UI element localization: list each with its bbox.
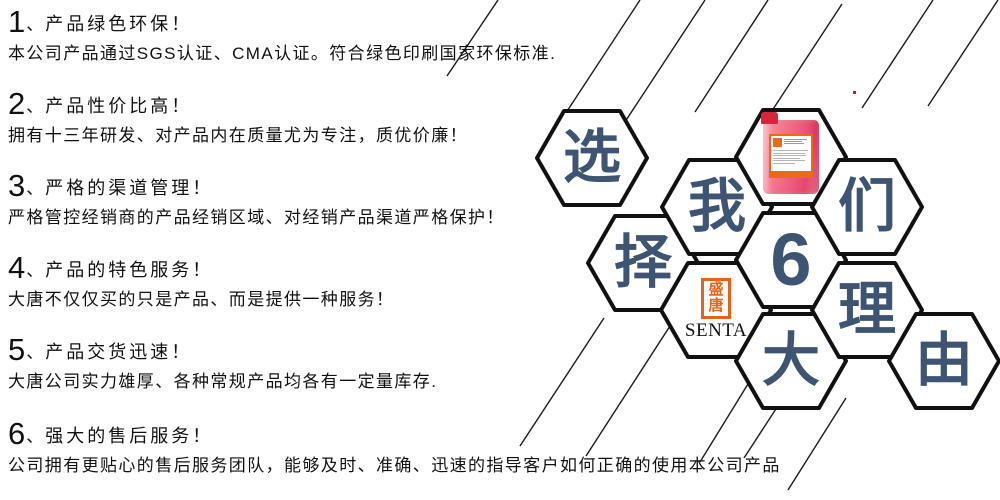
reason-6-body: 公司拥有更贴心的售后服务团队，能够及时、准确、迅速的指导客户如何正确的使用本公司… [8,456,781,476]
reason-2-number: 2 [8,88,25,119]
product-drum-icon [763,120,819,194]
reason-6-heading: 6 、 强大的售后服务！ [8,418,781,449]
reason-3-heading: 3 、 严格的渠道管理！ [8,170,505,201]
reason-6-number: 6 [8,418,25,449]
reason-5-separator: 、 [26,338,43,363]
reason-3-body: 严格管控经销商的产品经销区域、对经销产品渠道严格保护！ [8,208,505,228]
reason-5-heading: 5 、 产品交货迅速！ [8,334,437,365]
seal-char-bottom: 唐 [708,299,723,314]
reason-1-body: 本公司产品通过SGS认证、CMA认证。符合绿色印刷国家环保标准. [8,44,556,64]
reason-2-body: 拥有十三年研发、对产品内在质量尤为专注，质优价廉！ [8,126,468,146]
reason-6-title: 强大的售后服务！ [45,426,213,446]
reason-1-separator: 、 [26,10,43,35]
hex-label-you: 由 [889,314,999,408]
label-bottom-bar [771,171,811,176]
reason-3-number: 3 [8,170,25,201]
reason-item-5: 5 、 产品交货迅速！ 大唐公司实力雄厚、各种常规产品均各有一定量库存. [8,334,437,392]
reason-1-number: 1 [8,6,25,37]
reason-4-title: 产品的特色服务！ [45,260,213,280]
hex-cell-men[interactable]: 们 [812,160,922,254]
reason-5-body: 大唐公司实力雄厚、各种常规产品均各有一定量库存. [8,372,437,392]
reason-4-separator: 、 [26,256,43,281]
label-logo-square [773,138,782,147]
reason-6-separator: 、 [26,422,43,447]
reason-1-title: 产品绿色环保！ [45,14,192,34]
reason-3-title: 严格的渠道管理！ [45,178,213,198]
reason-5-number: 5 [8,334,25,365]
reason-2-title: 产品性价比高！ [45,96,192,116]
reason-3-separator: 、 [26,174,43,199]
reasons-list: 1 、 产品绿色环保！ 本公司产品通过SGS认证、CMA认证。符合绿色印刷国家环… [8,0,708,500]
seal-char-top: 盛 [708,283,723,298]
reason-item-4: 4 、 产品的特色服务！ 大唐不仅仅买的只是产品、而是提供一种服务！ [8,252,394,310]
reason-item-3: 3 、 严格的渠道管理！ 严格管控经销商的产品经销区域、对经销产品渠道严格保护！ [8,170,505,228]
reason-item-6: 6 、 强大的售后服务！ 公司拥有更贴心的售后服务团队，能够及时、准确、迅速的指… [8,418,781,476]
reason-2-heading: 2 、 产品性价比高！ [8,88,468,119]
drum-cap [761,112,778,124]
reason-item-2: 2 、 产品性价比高！ 拥有十三年研发、对产品内在质量尤为专注，质优价廉！ [8,88,468,146]
hex-cell-you[interactable]: 由 [889,314,999,408]
drum-label [769,134,813,178]
reason-4-body: 大唐不仅仅买的只是产品、而是提供一种服务！ [8,290,394,310]
reason-5-title: 产品交货迅速！ [45,342,192,362]
reason-item-1: 1 、 产品绿色环保！ 本公司产品通过SGS认证、CMA认证。符合绿色印刷国家环… [8,6,556,64]
poster-root: 选 择 我 盛 唐 SENTA [0,0,1000,500]
reason-2-separator: 、 [26,92,43,117]
red-dot-marker [853,91,856,94]
reason-4-heading: 4 、 产品的特色服务！ [8,252,394,283]
reason-1-heading: 1 、 产品绿色环保！ [8,6,556,37]
hex-label-men: 们 [812,160,922,254]
reason-4-number: 4 [8,252,25,283]
